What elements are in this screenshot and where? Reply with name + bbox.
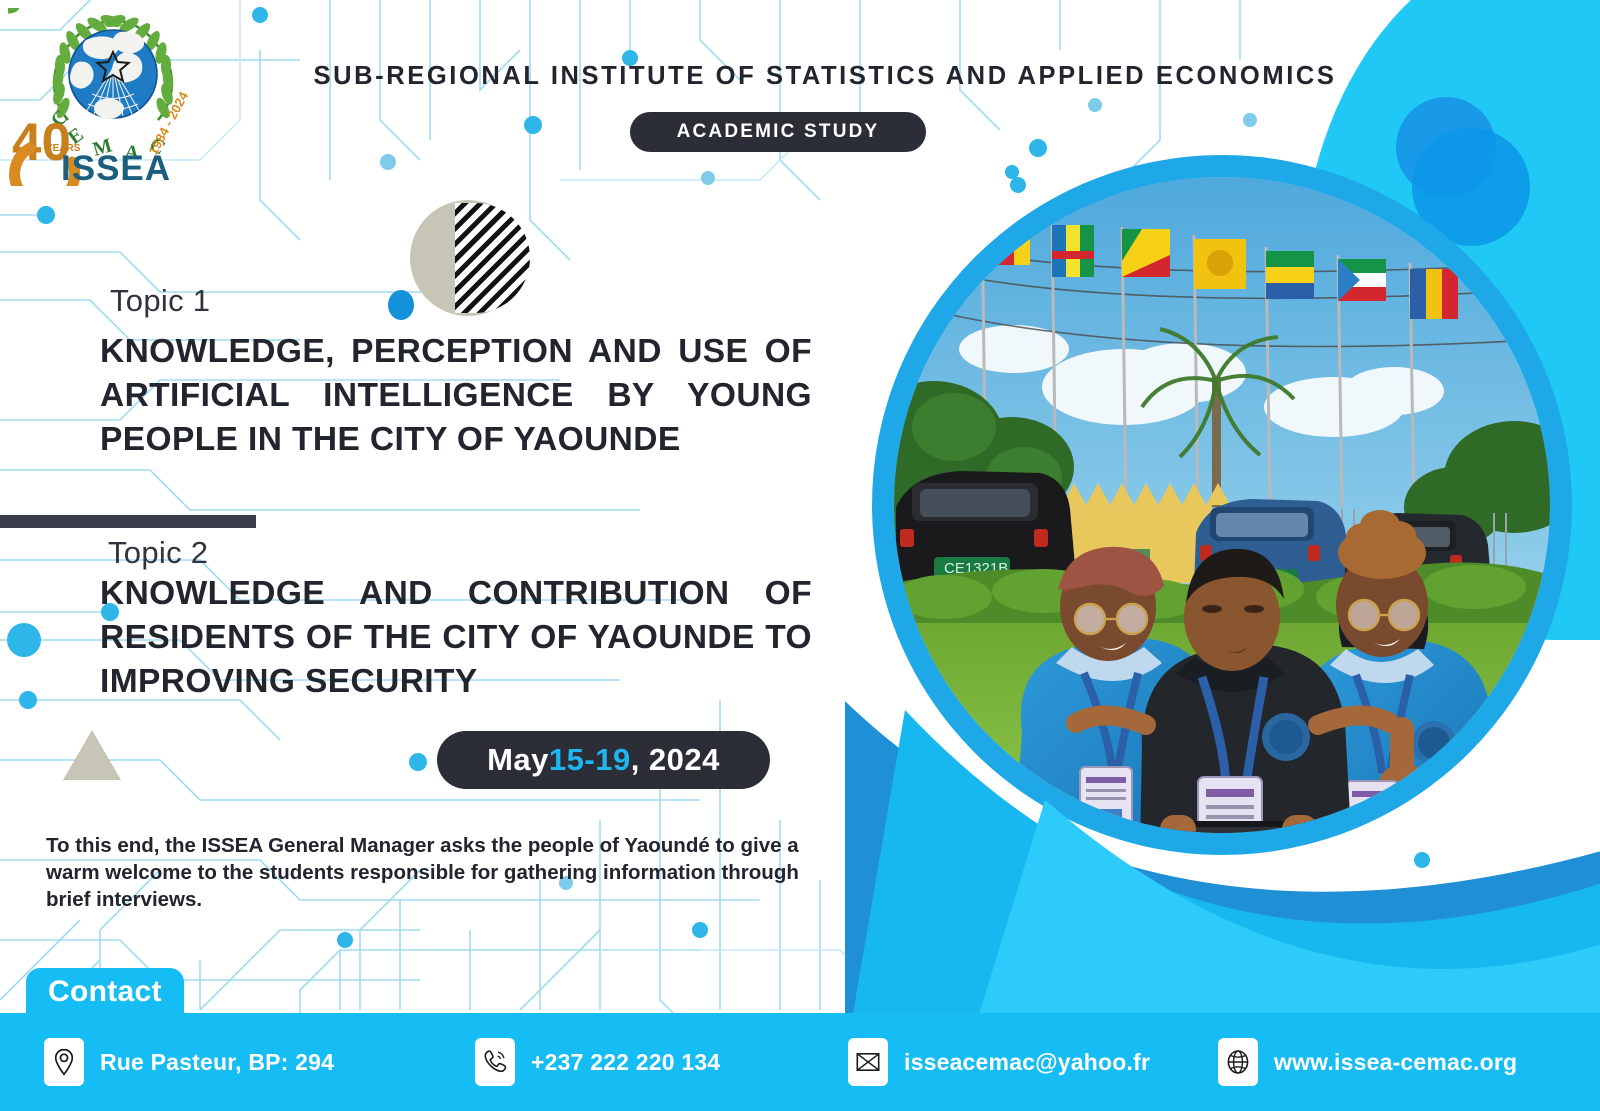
phone-icon xyxy=(475,1038,515,1086)
section-divider xyxy=(0,515,256,528)
contact-website-value: www.issea-cemac.org xyxy=(1274,1049,1517,1076)
topic-1-heading: KNOWLEDGE, PERCEPTION AND USE OF ARTIFIC… xyxy=(100,330,812,462)
contact-section-label: Contact xyxy=(48,975,162,1009)
contact-address: Rue Pasteur, BP: 294 xyxy=(44,1038,334,1086)
globe-icon xyxy=(1218,1038,1258,1086)
status-badge: ACADEMIC STUDY xyxy=(630,112,926,152)
topic-2-heading: KNOWLEDGE AND CONTRIBUTION OF RESIDENTS … xyxy=(100,572,812,704)
envelope-icon xyxy=(848,1038,888,1086)
topic-1-label: Topic 1 xyxy=(110,283,210,319)
date-separator: - xyxy=(584,742,595,778)
contact-address-value: Rue Pasteur, BP: 294 xyxy=(100,1049,334,1076)
poster-canvas: C E M A C 1984 - 2024 40 YEARS ISSEA SUB… xyxy=(0,0,1600,1111)
status-badge-label: ACADEMIC STUDY xyxy=(677,121,880,143)
contact-email[interactable]: isseacemac@yahoo.fr xyxy=(848,1038,1150,1086)
date-year: , 2024 xyxy=(631,742,720,778)
date-start-day: 15 xyxy=(549,742,584,778)
contact-website[interactable]: www.issea-cemac.org xyxy=(1218,1038,1517,1086)
issea-students-field-survey-photo: CE1321B xyxy=(894,177,1550,833)
contact-footer-bar: Rue Pasteur, BP: 294 +237 222 220 134 is… xyxy=(0,1013,1600,1111)
date-end-day: 19 xyxy=(595,742,630,778)
location-pin-icon xyxy=(44,1038,84,1086)
page-title: SUB-REGIONAL INSTITUTE OF STATISTICS AND… xyxy=(270,62,1380,91)
contact-email-value: isseacemac@yahoo.fr xyxy=(904,1049,1150,1076)
date-month: May xyxy=(487,742,549,778)
topic-2-label: Topic 2 xyxy=(108,535,208,571)
beige-triangle-decoration xyxy=(63,730,121,780)
striped-half-circle-decoration xyxy=(455,203,530,313)
contact-phone-value: +237 222 220 134 xyxy=(531,1049,720,1076)
announcement-text: To this end, the ISSEA General Manager a… xyxy=(46,832,814,913)
date-badge: May 15 - 19, 2024 xyxy=(437,731,770,789)
blue-dot-decoration xyxy=(388,290,414,320)
contact-phone[interactable]: +237 222 220 134 xyxy=(475,1038,720,1086)
svg-text:ISSEA: ISSEA xyxy=(61,149,171,186)
photo-circle-frame: CE1321B xyxy=(872,155,1572,855)
issea-cemac-logo: C E M A C 1984 - 2024 40 YEARS ISSEA xyxy=(8,8,218,186)
contact-section-tab: Contact xyxy=(26,968,184,1016)
